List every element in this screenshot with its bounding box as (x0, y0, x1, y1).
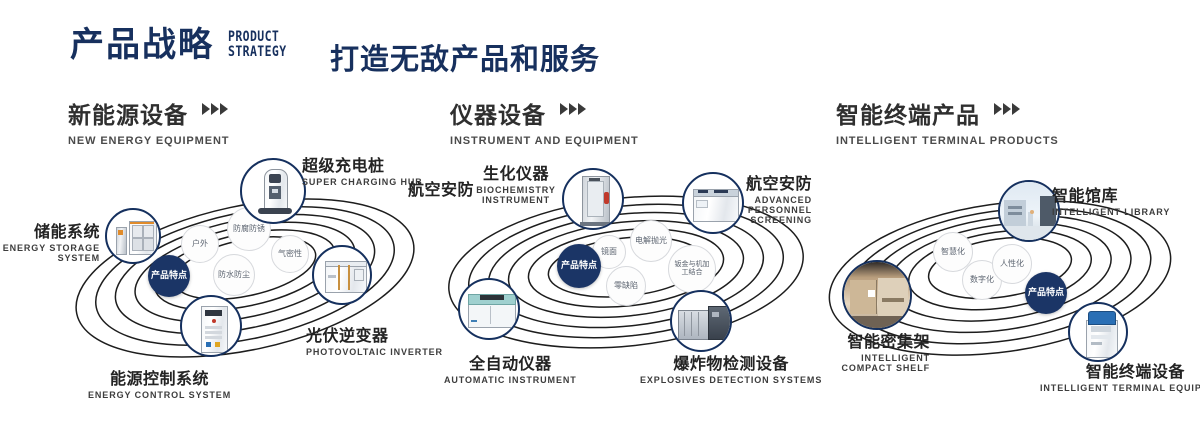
feature-bubble: 户外 (181, 225, 219, 263)
chevron-triple-right-icon (201, 102, 228, 120)
core-badge: 产品特点 (557, 244, 601, 288)
feature-bubble: 电解抛光 (630, 220, 672, 262)
node-label-cn: 储能系统 (2, 218, 100, 242)
node-label-energy-storage: 储能系统 ENERGY STORAGE SYSTEM (2, 218, 100, 263)
section-title-en: INTELLIGENT TERMINAL PRODUCTS (836, 135, 1059, 147)
energy-storage-cabinet-icon (107, 210, 159, 262)
page-title-cn: 产品战略 (70, 28, 214, 62)
node-intelligent-library[interactable] (998, 180, 1060, 242)
chevron-triple-right-icon (559, 102, 586, 120)
automatic-analyzer-icon (460, 280, 518, 338)
chevron-triple-right-icon (993, 102, 1020, 120)
node-label-explosives-detection: 爆炸物检测设备 EXPLOSIVES DETECTION SYSTEMS (640, 350, 822, 385)
self-service-kiosk-icon (1070, 304, 1126, 360)
node-intelligent-terminal-equipment[interactable] (1068, 302, 1128, 362)
node-label-energy-control-system: 能源控制系统 ENERGY CONTROL SYSTEM (88, 365, 231, 400)
section-title-intelligent-terminal: 智能终端产品 INTELLIGENT TERMINAL PRODUCTS (836, 96, 1059, 147)
node-label-en: ENERGY STORAGE SYSTEM (2, 243, 100, 263)
node-super-charging-hub[interactable] (240, 158, 306, 224)
node-label-en: INTELLIGENT LIBRARY (1052, 207, 1170, 217)
node-label-cn: 航空安防 (700, 170, 812, 194)
feature-bubble: 气密性 (271, 235, 309, 273)
feature-bubble: 零缺陷 (606, 266, 646, 306)
node-label-en: SUPER CHARGING HUB (302, 177, 423, 187)
node-label-intelligent-library: 智能馆库 INTELLIGENT LIBRARY (1052, 182, 1170, 217)
node-label-super-charging-hub: 超级充电桩 SUPER CHARGING HUB (302, 152, 423, 187)
node-label-biochemistry-instrument: 生化仪器 BIOCHEMISTRY INSTRUMENT (470, 160, 562, 205)
page-title: 产品战略 PRODUCT STRATEGY (70, 28, 299, 62)
library-room-icon (1000, 182, 1058, 240)
node-label-cn: 智能馆库 (1052, 182, 1170, 206)
node-label-en: EXPLOSIVES DETECTION SYSTEMS (640, 375, 822, 385)
node-label-cn: 爆炸物检测设备 (640, 350, 822, 374)
node-biochemistry-instrument[interactable] (562, 168, 624, 230)
node-label-en: AUTOMATIC INSTRUMENT (444, 375, 577, 385)
node-energy-control-system[interactable] (180, 295, 242, 357)
node-explosives-detection[interactable] (670, 290, 732, 352)
section-title-instrument: 仪器设备 INSTRUMENT AND EQUIPMENT (450, 96, 639, 147)
node-label-automatic-instrument: 全自动仪器 AUTOMATIC INSTRUMENT (444, 350, 577, 385)
node-energy-storage[interactable] (105, 208, 161, 264)
node-label-cn: 光伏逆变器 (306, 322, 443, 346)
pv-inverter-cabinet-icon (314, 247, 370, 303)
node-label-advanced-personnel-screening: 航空安防 ADVANCED PERSONNEL SCREENING (700, 170, 812, 225)
node-automatic-instrument[interactable] (458, 278, 520, 340)
node-label-cn: 智能终端设备 (1040, 358, 1200, 382)
section-title-en: INSTRUMENT AND EQUIPMENT (450, 135, 639, 147)
node-label-en: INTELLIGENT COMPACT SHELF (812, 353, 930, 373)
node-label-en: INTELLIGENT TERMINAL EQUIPMENT (1040, 383, 1200, 393)
explosive-detector-icon (672, 292, 730, 350)
core-badge: 产品特点 (1025, 272, 1067, 314)
feature-bubble: 钣金与机加工结合 (668, 245, 716, 293)
node-label-cn: 航空安防 (408, 176, 474, 200)
feature-bubble: 人性化 (992, 244, 1032, 284)
section-title-cn: 新能源设备 (68, 96, 188, 130)
node-label-cn: 全自动仪器 (444, 350, 577, 374)
node-label-cn: 智能密集架 (812, 328, 930, 352)
section-title-cn: 仪器设备 (450, 96, 546, 130)
node-label-photovoltaic-inverter: 光伏逆变器 PHOTOVOLTAIC INVERTER (306, 322, 443, 357)
section-title-en: NEW ENERGY EQUIPMENT (68, 135, 229, 147)
node-label-cn: 生化仪器 (470, 160, 562, 184)
poster-canvas: 产品战略 PRODUCT STRATEGY 打造无敌产品和服务 新能源设备 NE… (0, 0, 1200, 422)
page-title-en-line2: STRATEGY (228, 45, 287, 59)
feature-bubble: 防水防尘 (213, 254, 255, 296)
compact-shelf-icon (844, 262, 910, 328)
section-title-new-energy: 新能源设备 NEW ENERGY EQUIPMENT (68, 96, 229, 147)
node-label-en: BIOCHEMISTRY INSTRUMENT (470, 185, 562, 205)
biochemistry-scanner-icon (564, 170, 622, 228)
page-subtitle: 打造无敌产品和服务 (330, 36, 600, 78)
node-label-en: PHOTOVOLTAIC INVERTER (306, 347, 443, 357)
node-label-intelligent-compact-shelf: 智能密集架 INTELLIGENT COMPACT SHELF (812, 328, 930, 373)
page-title-en: PRODUCT STRATEGY (228, 30, 287, 62)
section-title-cn: 智能终端产品 (836, 96, 980, 130)
node-label-en: ADVANCED PERSONNEL SCREENING (700, 195, 812, 225)
node-label-aerospace-security-aside: 航空安防 (408, 176, 474, 200)
charging-pile-icon (242, 160, 304, 222)
node-label-cn: 超级充电桩 (302, 152, 423, 176)
node-label-intelligent-terminal-equipment: 智能终端设备 INTELLIGENT TERMINAL EQUIPMENT (1040, 358, 1200, 393)
node-intelligent-compact-shelf[interactable] (842, 260, 912, 330)
page-title-en-line1: PRODUCT (228, 30, 287, 44)
node-label-cn: 能源控制系统 (88, 365, 231, 389)
node-photovoltaic-inverter[interactable] (312, 245, 372, 305)
control-cabinet-icon (182, 297, 240, 355)
node-label-en: ENERGY CONTROL SYSTEM (88, 390, 231, 400)
